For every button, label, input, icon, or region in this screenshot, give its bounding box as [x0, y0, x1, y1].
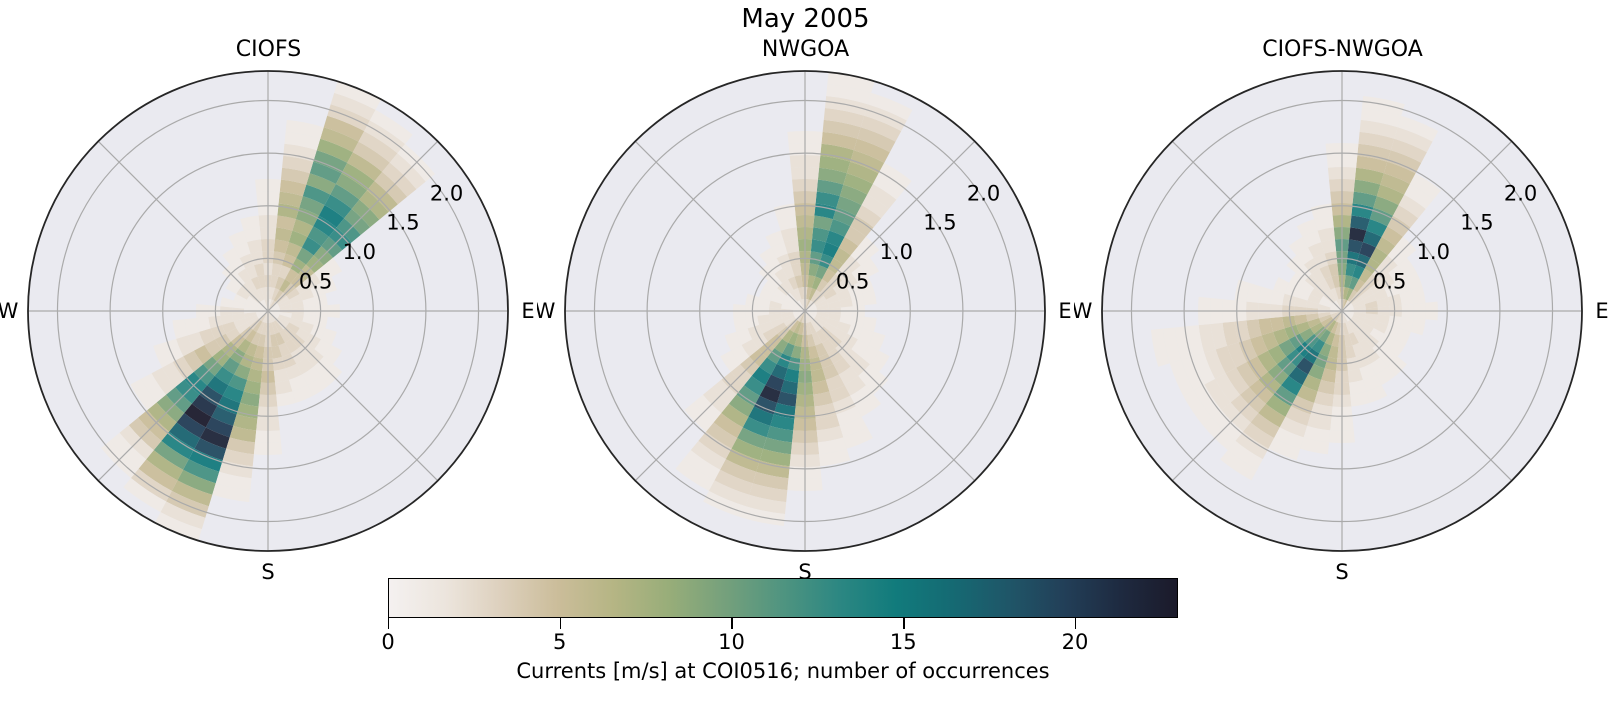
colorbar-ticks: 05101520: [388, 618, 1178, 630]
radial-tick-label: 2.0: [967, 181, 1000, 205]
radial-tick-label: 1.0: [1417, 240, 1450, 264]
compass-label-e: E: [1595, 299, 1608, 323]
compass-label-w: W: [0, 299, 19, 323]
rose-canvas: 0.51.01.52.0NESW: [537, 64, 1074, 581]
panel-nwgoa: NWGOA 0.51.01.52.0NESW: [537, 36, 1074, 581]
radial-tick-label: 0.5: [1373, 270, 1406, 294]
polar-grid: [28, 71, 508, 551]
polar-grid: [565, 71, 1045, 551]
radial-tick-label: 1.0: [343, 240, 376, 264]
windrose-ciofs[interactable]: 0.51.01.52.0NESW: [0, 64, 537, 581]
colorbar-tick-mark: [388, 618, 389, 629]
windrose-ciofs-nwgoa[interactable]: 0.51.01.52.0NESW: [1074, 64, 1611, 581]
panel-title: CIOFS-NWGOA: [1074, 36, 1611, 64]
rose-canvas: 0.51.01.52.0NESW: [0, 64, 537, 581]
radial-tick-label: 0.5: [299, 270, 332, 294]
compass-label-w: W: [537, 299, 556, 323]
panel-title: CIOFS: [0, 36, 537, 64]
compass-label-e: E: [1058, 299, 1071, 323]
colorbar-tick-mark: [731, 618, 732, 629]
colorbar: 05101520 Currents [m/s] at COI0516; numb…: [388, 578, 1178, 724]
radial-tick-label: 1.5: [923, 211, 956, 235]
compass-label-s: S: [261, 560, 274, 581]
radial-tick-label: 1.5: [386, 211, 419, 235]
radial-tick-label: 1.0: [880, 240, 913, 264]
colorbar-tick-mark: [903, 618, 904, 629]
figure-root: May 2005 CIOFS 0.51.01.52.0NESW NWGOA 0.…: [0, 0, 1611, 724]
colorbar-tick-label: 10: [718, 629, 745, 655]
compass-label-e: E: [521, 299, 534, 323]
radial-tick-label: 2.0: [430, 181, 463, 205]
radial-tick-label: 2.0: [1504, 181, 1537, 205]
colorbar-tick-label: 5: [553, 629, 566, 655]
colorbar-gradient[interactable]: [388, 578, 1178, 618]
colorbar-tick-mark: [1075, 618, 1076, 629]
polar-grid: [1102, 71, 1582, 551]
colorbar-label: Currents [m/s] at COI0516; number of occ…: [388, 658, 1178, 685]
radial-tick-label: 1.5: [1460, 211, 1493, 235]
compass-label-s: S: [1335, 560, 1348, 581]
colorbar-tick-label: 0: [381, 629, 394, 655]
colorbar-tick-mark: [560, 618, 561, 629]
colorbar-tick-label: 15: [890, 629, 917, 655]
panel-ciofs-nwgoa: CIOFS-NWGOA 0.51.01.52.0NESW: [1074, 36, 1611, 581]
windrose-nwgoa[interactable]: 0.51.01.52.0NESW: [537, 64, 1074, 581]
panel-ciofs: CIOFS 0.51.01.52.0NESW: [0, 36, 537, 581]
figure-suptitle: May 2005: [0, 2, 1611, 36]
colorbar-tick-label: 20: [1062, 629, 1089, 655]
radial-tick-label: 0.5: [836, 270, 869, 294]
panel-title: NWGOA: [537, 36, 1074, 64]
rose-canvas: 0.51.01.52.0NESW: [1074, 64, 1611, 581]
compass-label-w: W: [1074, 299, 1093, 323]
